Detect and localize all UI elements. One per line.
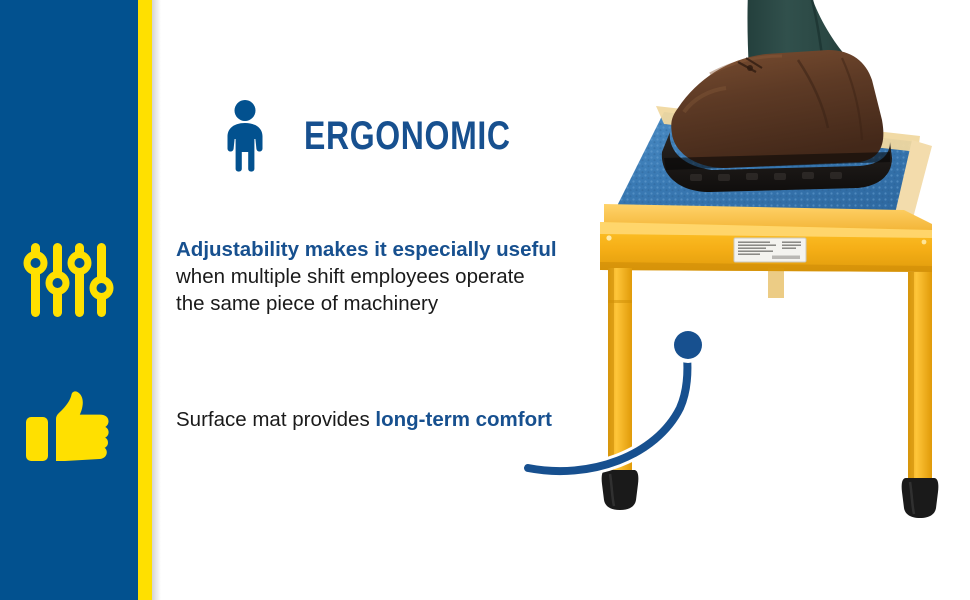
section-heading: ERGONOMIC <box>222 100 562 172</box>
page-title: ERGONOMIC <box>304 116 511 156</box>
paragraph-highlight-text: long-term comfort <box>375 408 552 431</box>
sliders-icon <box>0 232 138 328</box>
yellow-accent-stripe <box>138 0 152 600</box>
panel-drop-shadow <box>152 0 161 600</box>
paragraph-lead: Adjustability makes it especially useful <box>176 236 596 263</box>
paragraph-line-3: the same piece of machinery <box>176 290 596 317</box>
paragraph-plain-text: Surface mat provides <box>176 408 375 431</box>
paragraph-line-2: when multiple shift employees operate <box>176 263 596 290</box>
rubber-feet <box>602 470 939 518</box>
work-boot <box>662 50 892 192</box>
feature-paragraph-surface-mat: Surface mat provides long-term comfort <box>176 406 616 433</box>
thumbs-up-icon <box>0 382 138 474</box>
spec-label <box>734 238 806 262</box>
adjustable-step-platform-photo <box>560 0 970 600</box>
feature-paragraph-adjustability: Adjustability makes it especially useful… <box>176 236 596 317</box>
platform-legs <box>608 268 932 490</box>
infographic-canvas: ERGONOMIC Adjustability makes it especia… <box>0 0 970 600</box>
person-icon <box>222 100 268 172</box>
